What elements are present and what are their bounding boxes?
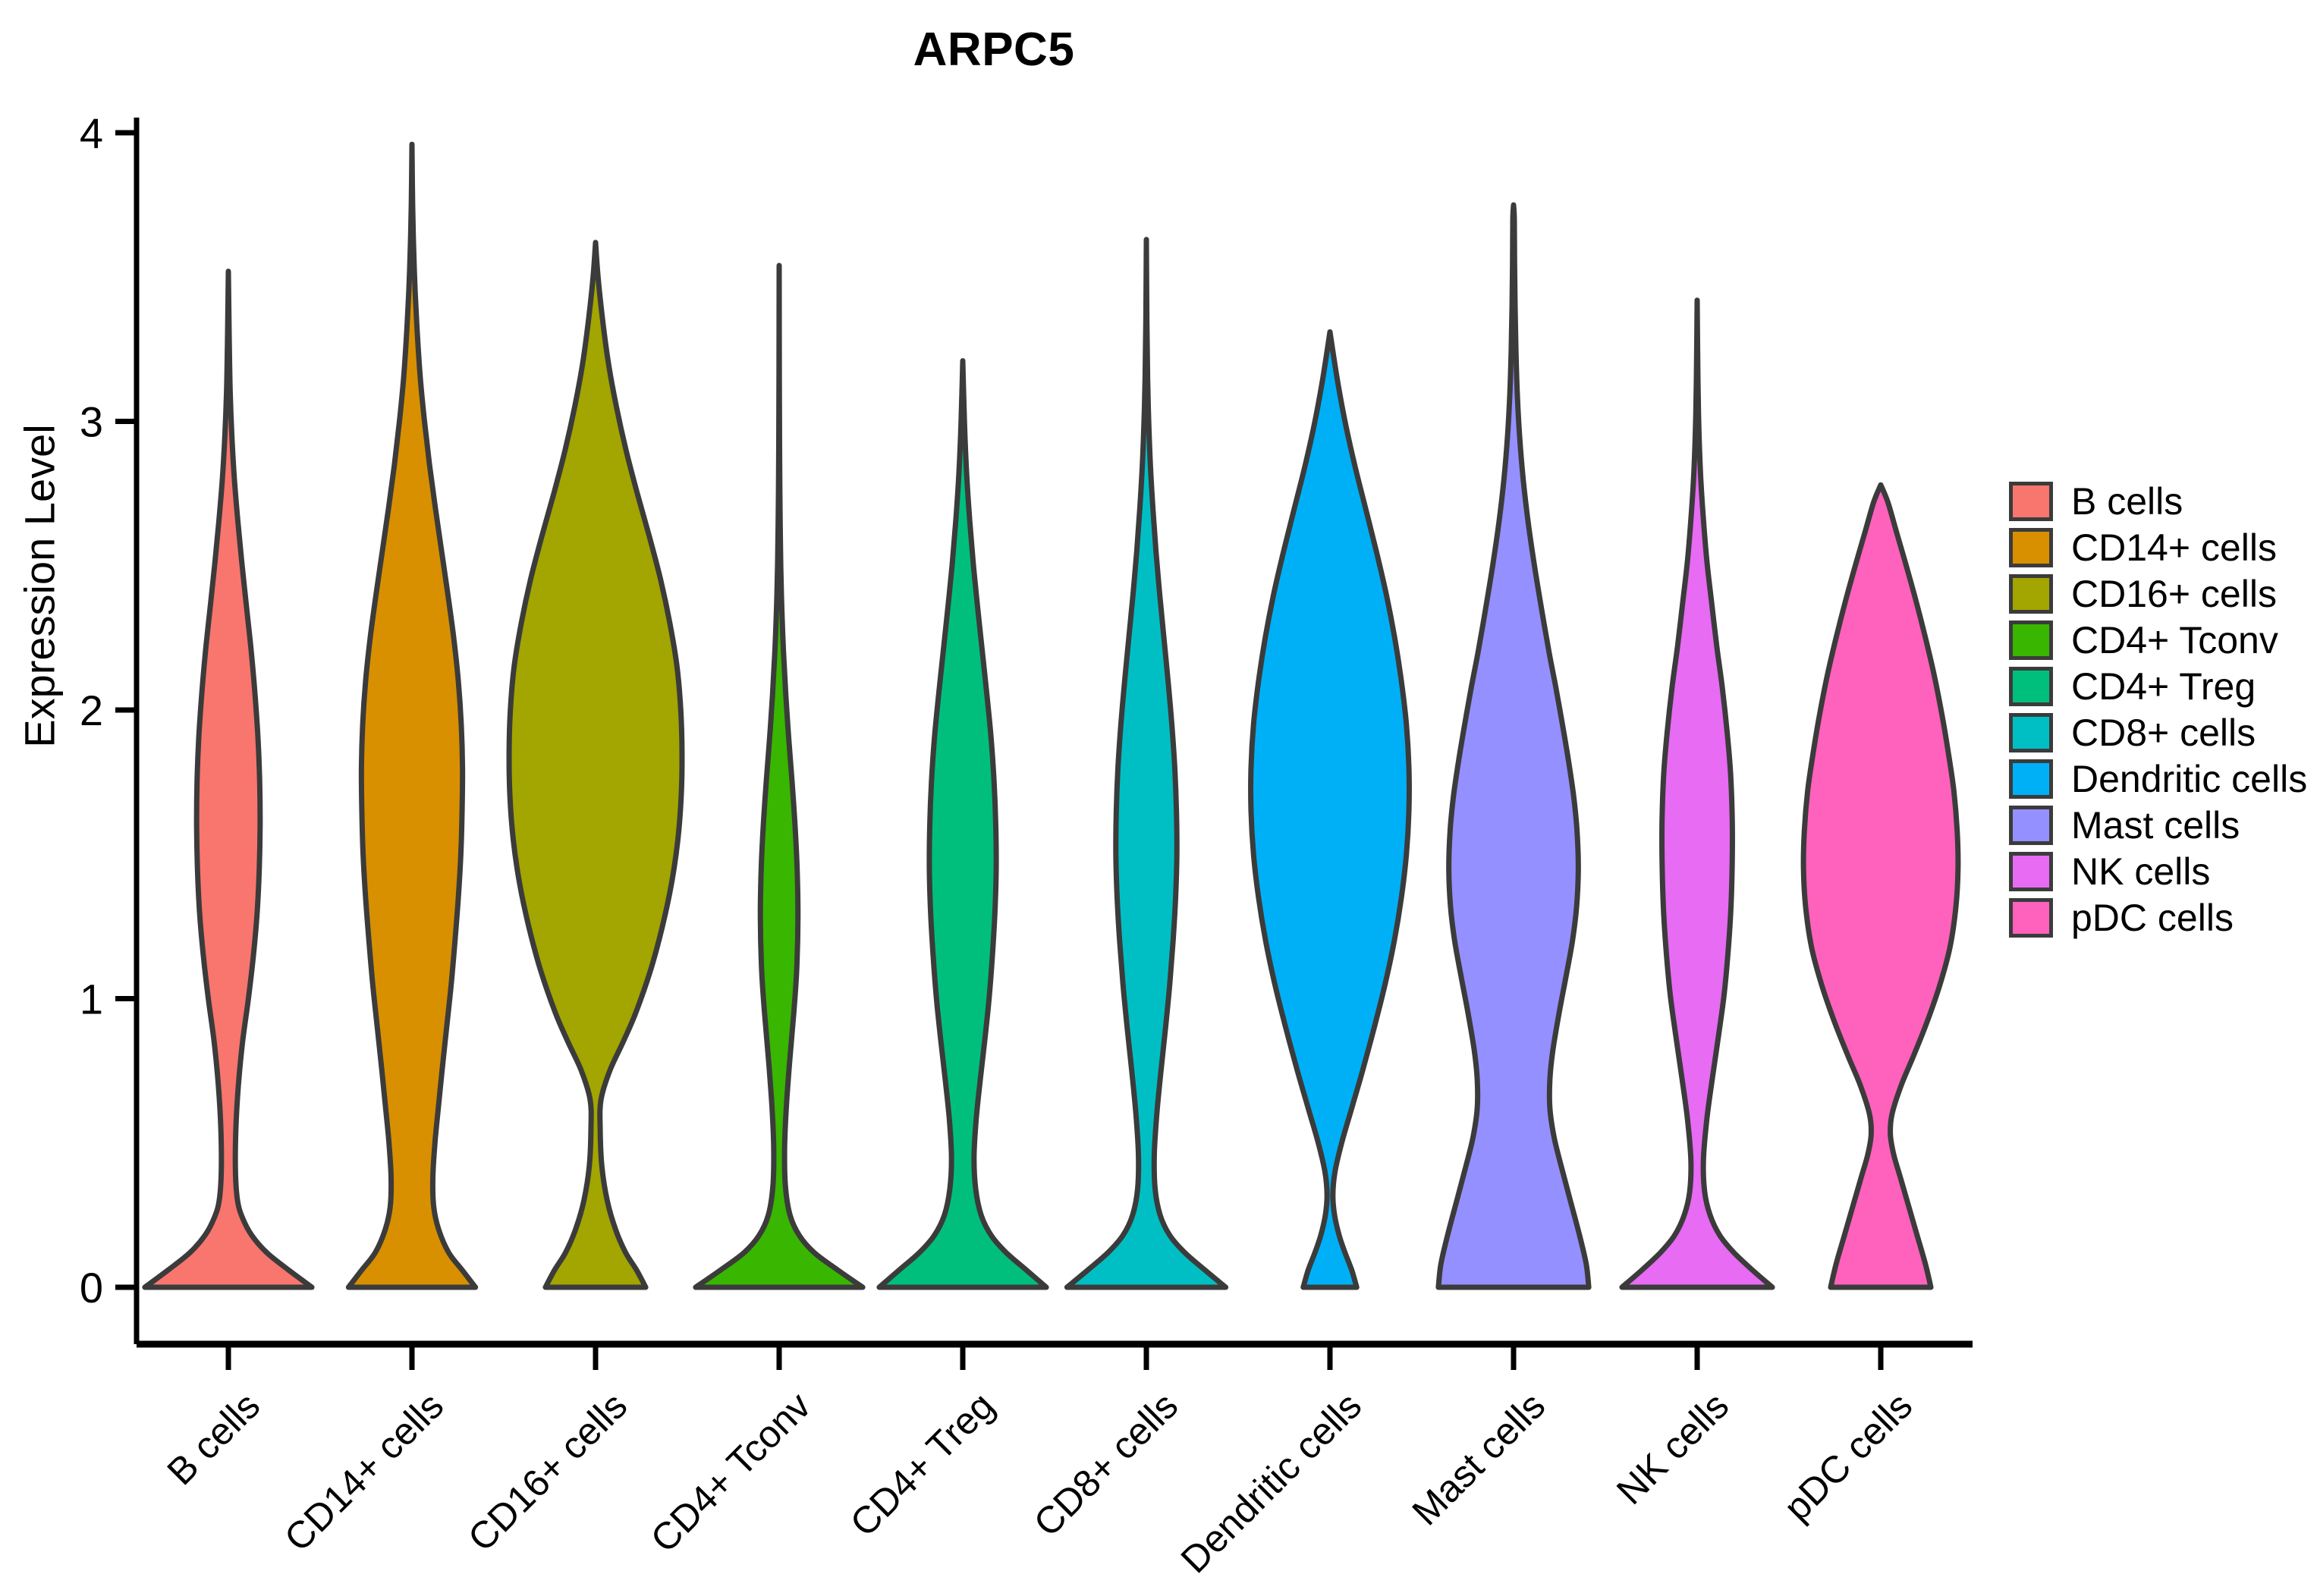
y-tick-label: 2 [80,686,103,734]
violin-mast-cells[interactable] [1438,205,1589,1287]
legend-item-nk-cells[interactable]: NK cells [2009,848,2307,894]
y-tick-label: 1 [80,976,103,1023]
legend-item-label: CD4+ Tconv [2071,618,2278,662]
legend-item-label: NK cells [2071,850,2210,894]
violin-nk-cells[interactable] [1622,300,1772,1287]
legend-item-label: CD14+ cells [2071,526,2277,570]
legend-item-pdc-cells[interactable]: pDC cells [2009,894,2307,941]
violin-cd8-cells[interactable] [1067,240,1225,1287]
violin-plot-figure: ARPC5 Expression Level 01234 B cellsCD14… [0,0,2317,1596]
legend-item-label: B cells [2071,479,2183,523]
legend-item-cd14-cells[interactable]: CD14+ cells [2009,524,2307,570]
legend-item-label: pDC cells [2071,896,2234,940]
violin-cd14-cells[interactable] [348,144,475,1287]
violin-b-cells[interactable] [145,272,312,1287]
legend-item-label: Mast cells [2071,803,2240,847]
legend-item-dendritic-cells[interactable]: Dendritic cells [2009,756,2307,802]
legend-swatch-icon [2009,852,2053,891]
legend-swatch-icon [2009,806,2053,845]
violin-dendritic-cells[interactable] [1251,332,1410,1287]
legend-item-label: CD8+ cells [2071,711,2256,755]
legend-item-mast-cells[interactable]: Mast cells [2009,802,2307,848]
legend-item-cd4-tconv[interactable]: CD4+ Tconv [2009,617,2307,663]
legend: B cellsCD14+ cellsCD16+ cellsCD4+ TconvC… [2009,478,2307,941]
legend-swatch-icon [2009,620,2053,660]
chart-canvas: 01234 [0,0,2317,1596]
legend-item-cd8-cells[interactable]: CD8+ cells [2009,709,2307,756]
legend-swatch-icon [2009,713,2053,752]
violin-pdc-cells[interactable] [1803,485,1958,1287]
y-tick-label: 3 [80,398,103,446]
legend-item-cd4-treg[interactable]: CD4+ Treg [2009,663,2307,709]
legend-item-label: CD16+ cells [2071,572,2277,616]
legend-item-cd16-cells[interactable]: CD16+ cells [2009,570,2307,617]
legend-swatch-icon [2009,482,2053,521]
legend-item-label: Dendritic cells [2071,757,2307,801]
legend-item-b-cells[interactable]: B cells [2009,478,2307,524]
violin-cd4-treg[interactable] [879,361,1046,1287]
violin-cd4-tconv[interactable] [696,265,863,1287]
legend-swatch-icon [2009,759,2053,799]
y-tick-label: 0 [80,1264,103,1312]
legend-swatch-icon [2009,667,2053,706]
legend-swatch-icon [2009,898,2053,938]
y-tick-label: 4 [80,109,103,157]
violin-cd16-cells[interactable] [509,243,682,1287]
violins-group [145,144,1958,1287]
legend-swatch-icon [2009,574,2053,614]
legend-swatch-icon [2009,528,2053,567]
legend-item-label: CD4+ Treg [2071,664,2256,708]
